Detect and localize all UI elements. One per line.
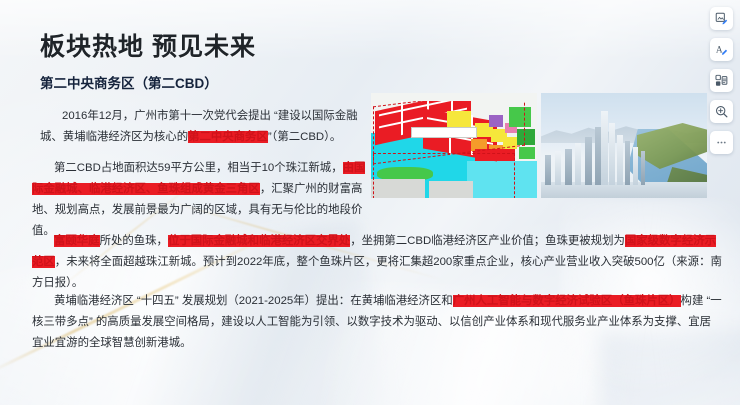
zoom-in-icon-button[interactable] (710, 100, 733, 123)
highlighted-text: 位于国际金融城和临港经济区交界处 (168, 235, 350, 247)
body-text: ，未来将全面超越珠江新城。预计到2022年底，整个鱼珠片区，更将汇集超200家重… (32, 256, 722, 289)
paragraph-4: 黄埔临港经济区 “十四五” 发展规划（2021-2025年）提出：在黄埔临港经济… (32, 291, 722, 354)
skyline-render-image (541, 93, 707, 198)
image-edit-icon-button[interactable] (710, 7, 733, 30)
body-text: 所处的鱼珠， (100, 235, 168, 247)
highlighted-text: 第二中央商务区 (188, 131, 268, 143)
body-text: ，坐拥第二CBD临港经济区产业价值；鱼珠更被规划为 (350, 235, 625, 247)
highlighted-text: 富颐华庭 (54, 235, 100, 247)
body-text: 第二CBD占地面积达59平方公里，相当于10个珠江新城， (54, 162, 343, 174)
layout-icon-button[interactable] (710, 69, 733, 92)
highlighted-text: 广州人工智能与数字经济试验区（鱼珠片区） (453, 295, 681, 307)
text-edit-icon-button[interactable]: A (710, 38, 733, 61)
planning-map-image (371, 93, 537, 198)
zoom-in-icon (715, 105, 728, 118)
text-edit-icon: A (715, 43, 728, 56)
section-heading: 第二中央商务区（第二CBD） (40, 72, 218, 92)
body-text: ”（第二CBD）。 (268, 131, 341, 143)
paragraph-2: 第二CBD占地面积达59平方公里，相当于10个珠江新城，由国际金融城、临港经济区… (32, 158, 368, 242)
image-edit-icon (715, 12, 728, 25)
more-icon (715, 136, 728, 149)
layout-icon (715, 74, 728, 87)
presentation-slide: 板块热地 预见未来 第二中央商务区（第二CBD） 2016年12月，广州市第十一… (0, 0, 740, 405)
body-text: 黄埔临港经济区 “十四五” 发展规划（2021-2025年）提出：在黄埔临港经济… (54, 295, 453, 307)
paragraph-1: 2016年12月，广州市第十一次党代会提出 “建设以国际金融城、黄埔临港经济区为… (40, 106, 360, 148)
more-icon-button[interactable] (710, 131, 733, 154)
svg-text:A: A (716, 45, 723, 55)
page-title: 板块热地 预见未来 (40, 27, 256, 63)
paragraph-3: 富颐华庭所处的鱼珠，位于国际金融城和临港经济区交界处，坐拥第二CBD临港经济区产… (32, 231, 722, 294)
floating-toolbar[interactable]: A (710, 7, 733, 154)
